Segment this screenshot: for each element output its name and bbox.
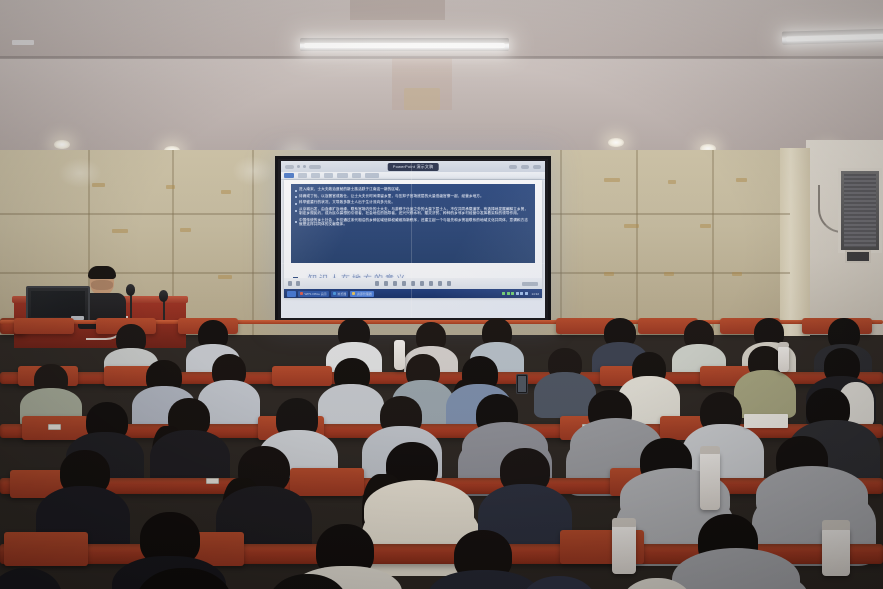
toolbar-icon[interactable] (402, 281, 406, 286)
wall-mark (700, 224, 711, 228)
toolbar-icon[interactable] (375, 281, 379, 286)
water-bottle (822, 528, 850, 576)
projection-screen: PowerPoint 演示文稿 进入南宋，士大夫政治造就的新士族活跃于江南这一新 (281, 161, 545, 318)
monitor-screen (31, 291, 85, 317)
app-icon (352, 292, 355, 295)
wall-mark (664, 272, 674, 276)
language-icon (296, 281, 300, 286)
ribbon-tab-insert (311, 173, 320, 178)
water-bottle (612, 524, 636, 574)
wall-mark (604, 178, 620, 182)
smartphone (516, 374, 528, 394)
water-bottle (700, 452, 720, 510)
wall-mark (112, 229, 128, 233)
wall-mark (736, 178, 747, 182)
seat (290, 468, 364, 496)
toolbar-icon[interactable] (429, 281, 433, 286)
app-icon (300, 292, 303, 295)
bullet-dot-icon (295, 196, 297, 198)
wall-mark (180, 228, 191, 232)
speaker-grill-icon (844, 174, 876, 247)
panel-seam (560, 150, 562, 335)
water-bottle (778, 346, 789, 372)
wall-mark (668, 180, 676, 184)
audience-head (520, 576, 598, 589)
downlight-icon (608, 138, 624, 147)
minimize-icon (509, 165, 517, 169)
projected-windows-taskbar: WPS Office 演示 浏览器 资源管理器 14:3 (284, 289, 542, 298)
audience-seating (0, 318, 883, 589)
maximize-icon (521, 165, 529, 169)
titlebar-dot-icon (297, 165, 300, 168)
app-icon (333, 292, 336, 295)
microphone-stand (130, 292, 132, 320)
wall-outlet-plate (845, 250, 871, 263)
seat-number-plate (48, 424, 61, 430)
wall-mark (218, 275, 232, 279)
taskbar-item[interactable]: 资源管理器 (350, 291, 374, 297)
titlebar-pill (309, 165, 321, 169)
wall-pillar (780, 148, 810, 336)
titlebar-pill (285, 165, 294, 169)
ceiling-tube-light-right (782, 28, 883, 44)
tube-glow (786, 33, 883, 41)
wall-mark (732, 272, 742, 276)
panel-seam (636, 150, 638, 335)
wall-mark (624, 224, 639, 228)
titlebar-dot-icon (303, 165, 306, 168)
ribbon-tab-design (324, 173, 333, 178)
audience-torso (534, 372, 596, 418)
tray-icon[interactable] (525, 292, 528, 295)
bottle-cap (778, 342, 789, 347)
audience-torso (734, 370, 796, 418)
microphone-icon (159, 290, 168, 302)
tray-icon[interactable] (502, 292, 505, 295)
wall-sheen (232, 156, 274, 186)
slide-bullet: 中国传统的乡土社会，不仅通过宋代相沿的乡绅区域信仰权威维持新秩序，还建立起一个与… (295, 218, 531, 227)
slide-bullet: 科举盛重行的状况，又导致多数士人出于生计流向多元化。 (295, 200, 531, 205)
tube-glow (304, 43, 505, 48)
network-icon[interactable] (516, 292, 519, 295)
projected-app-titlebar: PowerPoint 演示文稿 (281, 161, 545, 172)
statusbar-left (288, 281, 300, 286)
zoom-slider[interactable] (522, 282, 538, 286)
toolbar-icon[interactable] (420, 281, 424, 286)
bullet-dot-icon (295, 203, 297, 205)
slide-bullet: 待阙或丁忧、以及罢官或致仕，让士大夫长时间滞留乡里，与压抑子官场底层的大量低级官… (295, 194, 531, 199)
audience-head (0, 568, 62, 589)
bottle-cap (700, 446, 720, 454)
microphone-icon (126, 284, 135, 296)
screen-seam (411, 161, 412, 318)
phone-screen (518, 376, 526, 392)
presenter-hair (88, 266, 116, 279)
ceiling-tube-light-left (300, 38, 509, 51)
seat (14, 318, 74, 334)
seat-number-plate (206, 478, 219, 484)
toolbar-icon[interactable] (447, 281, 451, 286)
notebook-paper (744, 414, 788, 428)
toolbar-icon[interactable] (393, 281, 397, 286)
start-button-icon[interactable] (287, 291, 296, 297)
screen-seam (281, 263, 545, 264)
close-icon (533, 165, 541, 169)
projected-app-ribbon (281, 172, 545, 180)
titlebar-left-controls (281, 165, 321, 169)
taskbar-item[interactable]: 浏览器 (331, 291, 349, 297)
bottle-cap (612, 518, 636, 527)
ribbon-tab-transitions (337, 173, 348, 178)
wall-mark (221, 190, 231, 194)
bullet-dot-icon (295, 210, 297, 212)
lecture-hall-photo: PowerPoint 演示文稿 进入南宋，士大夫政治造就的新士族活跃于江南这一新 (0, 0, 883, 589)
presenter-face-shadow (91, 280, 113, 290)
panel-seam (712, 150, 714, 335)
wall-mark (166, 185, 175, 189)
taskbar-clock: 14:32 (531, 292, 539, 296)
downlight-icon (54, 140, 70, 149)
volume-icon[interactable] (520, 292, 523, 295)
wall-mark (604, 272, 614, 276)
ceiling-vent (350, 0, 445, 20)
water-bottle (394, 340, 405, 370)
seat (272, 366, 332, 386)
slide-bullet-box: 进入南宋，士大夫政治造就的新士族活跃于江南这一新的区域。 待阙或丁忧、以及罢官或… (291, 184, 535, 263)
toolbar-icon[interactable] (384, 281, 388, 286)
bullet-dot-icon (295, 221, 297, 223)
ribbon-tab-file (284, 173, 294, 178)
wall-sheen (58, 158, 102, 188)
projected-app-title: PowerPoint 演示文稿 (388, 163, 439, 171)
slide-canvas: 进入南宋，士大夫政治造就的新士族活跃于江南这一新的区域。 待阙或丁忧、以及罢官或… (284, 180, 542, 298)
seat (4, 532, 88, 566)
slide-bullet: 进入南宋，士大夫政治造就的新士族活跃于江南这一新的区域。 (295, 187, 531, 192)
presenter-shirt-print (12, 40, 34, 45)
ceiling-fixture-box (404, 88, 440, 110)
bullet-dot-icon (295, 190, 297, 192)
ribbon-tab-home (298, 173, 307, 178)
wall-speaker (838, 168, 882, 253)
ribbon-tab-slideshow (365, 173, 379, 178)
tray-icon[interactable] (511, 292, 514, 295)
slide-bullet: 从京城出发，由血缘扩及地缘，联系官场内外的士大夫，与游移于仕途之外的大量下层士人… (295, 207, 531, 216)
bottle-cap (822, 520, 850, 530)
system-tray: 14:32 (502, 292, 539, 296)
toolbar-icon[interactable] (438, 281, 442, 286)
slide-statusbar (284, 278, 542, 289)
titlebar-right-controls (509, 165, 541, 169)
taskbar-item[interactable]: WPS Office 演示 (298, 291, 329, 297)
tray-icon[interactable] (507, 292, 510, 295)
slide-count-icon (288, 281, 292, 286)
ribbon-tab-animations (352, 173, 361, 178)
